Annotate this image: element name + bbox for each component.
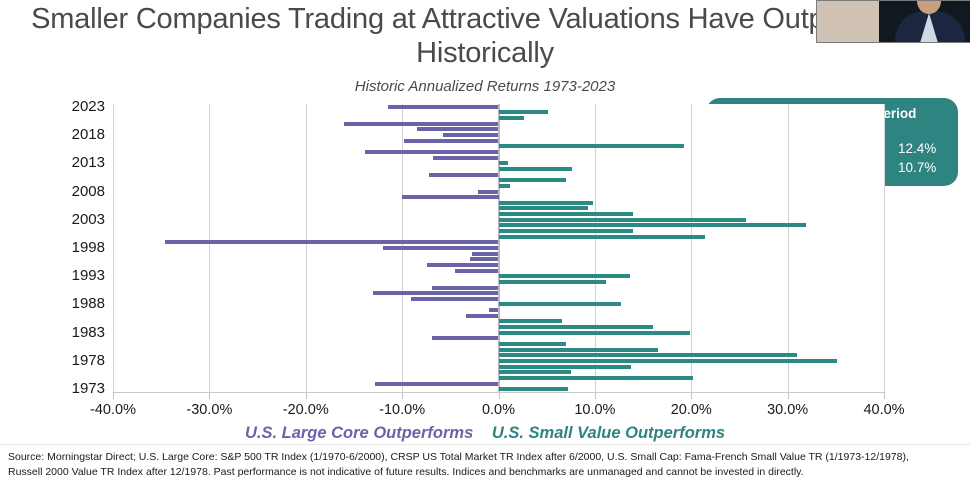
bar-2013 <box>499 161 509 165</box>
bar-2009 <box>499 184 511 188</box>
bar-1984 <box>499 325 653 329</box>
bar-2007 <box>402 195 498 199</box>
bar-2005 <box>499 206 589 210</box>
x-tick-label--20: -20.0% <box>261 402 351 418</box>
bar-1980 <box>499 348 658 352</box>
axis-line-40 <box>884 104 885 392</box>
callout-value-large-core: 10.7% <box>898 158 944 177</box>
chart-plot-area <box>113 104 884 392</box>
x-tickmark--20 <box>306 392 307 399</box>
y-tick-label-2018: 2018 <box>35 126 105 143</box>
x-tick-label-40: 40.0% <box>839 402 929 418</box>
x-tickmark-10 <box>595 392 596 399</box>
bar-2017 <box>404 139 498 143</box>
bar-1997 <box>472 252 499 256</box>
bar-2012 <box>499 167 572 171</box>
bar-1985 <box>499 319 563 323</box>
bar-1976 <box>499 370 571 374</box>
x-tickmark--30 <box>209 392 210 399</box>
x-tick-label--40: -40.0% <box>68 402 158 418</box>
bar-1978 <box>499 359 837 363</box>
bar-2023 <box>388 105 499 109</box>
axis-line--20 <box>306 104 307 392</box>
legend-negative-label: U.S. Large Core Outperforms <box>245 424 473 442</box>
axis-line-20 <box>691 104 692 392</box>
bar-1974 <box>375 382 498 386</box>
bar-1998 <box>383 246 499 250</box>
x-tick-label-10: 10.0% <box>550 402 640 418</box>
source-line-2: Russell 2000 Value TR Index after 12/197… <box>8 465 964 480</box>
bar-1999 <box>165 240 498 244</box>
y-tick-label-2013: 2013 <box>35 154 105 171</box>
bar-2000 <box>499 235 705 239</box>
bar-1977 <box>499 365 631 369</box>
bar-2003 <box>499 218 747 222</box>
y-tick-label-1988: 1988 <box>35 295 105 312</box>
bar-2011 <box>429 173 498 177</box>
bar-1986 <box>466 314 499 318</box>
bar-2021 <box>499 116 524 120</box>
x-tickmark--40 <box>113 392 114 399</box>
bar-2002 <box>499 223 806 227</box>
bar-1979 <box>499 353 798 357</box>
bar-2004 <box>499 212 634 216</box>
bar-1975 <box>499 376 694 380</box>
chart-subtitle: Historic Annualized Returns 1973-2023 <box>0 78 970 95</box>
video-thumbnail-overlay[interactable] <box>816 0 970 43</box>
x-tickmark--10 <box>402 392 403 399</box>
source-footnote: Source: Morningstar Direct; U.S. Large C… <box>8 450 964 480</box>
bar-1987 <box>489 308 499 312</box>
bar-2016 <box>499 144 684 148</box>
bar-1993 <box>499 274 630 278</box>
bar-2008 <box>478 190 498 194</box>
bar-1990 <box>373 291 498 295</box>
y-tick-label-1983: 1983 <box>35 324 105 341</box>
axis-line--40 <box>113 104 114 392</box>
bar-1992 <box>499 280 607 284</box>
legend-positive-label: U.S. Small Value Outperforms <box>492 424 725 442</box>
x-tickmark-30 <box>788 392 789 399</box>
bar-2001 <box>499 229 634 233</box>
axis-line--30 <box>209 104 210 392</box>
bar-2018 <box>443 133 499 137</box>
x-tickmark-20 <box>691 392 692 399</box>
y-tick-label-1973: 1973 <box>35 380 105 397</box>
bar-2019 <box>417 127 499 131</box>
y-tick-label-2023: 2023 <box>35 98 105 115</box>
y-tick-label-1998: 1998 <box>35 239 105 256</box>
video-background-left <box>817 1 879 42</box>
x-tick-label--30: -30.0% <box>164 402 254 418</box>
bar-1996 <box>470 257 499 261</box>
chart-legend: U.S. Large Core Outperforms U.S. Small V… <box>0 424 970 443</box>
callout-value-small-cap-value: 12.4% <box>898 139 944 158</box>
y-tick-label-2003: 2003 <box>35 211 105 228</box>
x-tick-label--10: -10.0% <box>357 402 447 418</box>
axis-line-30 <box>788 104 789 392</box>
bar-1991 <box>432 286 498 290</box>
x-tick-label-30: 30.0% <box>743 402 833 418</box>
footnote-divider <box>0 444 970 445</box>
bar-2020 <box>344 122 498 126</box>
x-tick-label-20: 20.0% <box>646 402 736 418</box>
y-tick-label-2008: 2008 <box>35 183 105 200</box>
bar-2006 <box>499 201 593 205</box>
bar-1973 <box>499 387 568 391</box>
bar-2015 <box>365 150 499 154</box>
bar-2010 <box>499 178 566 182</box>
bar-1981 <box>499 342 566 346</box>
bar-1982 <box>432 336 498 340</box>
bar-1988 <box>499 302 621 306</box>
bar-1994 <box>455 269 498 273</box>
y-tick-label-1993: 1993 <box>35 267 105 284</box>
slide-root: Smaller Companies Trading at Attractive … <box>0 0 970 494</box>
bar-2014 <box>433 156 499 160</box>
x-tick-label-0: 0.0% <box>454 402 544 418</box>
y-tick-label-1978: 1978 <box>35 352 105 369</box>
bar-1995 <box>427 263 498 267</box>
bar-2022 <box>499 110 548 114</box>
bar-1983 <box>499 331 691 335</box>
source-line-1: Source: Morningstar Direct; U.S. Large C… <box>8 450 964 465</box>
x-tickmark-40 <box>884 392 885 399</box>
bar-1989 <box>411 297 499 301</box>
x-tickmark-0 <box>499 392 500 399</box>
